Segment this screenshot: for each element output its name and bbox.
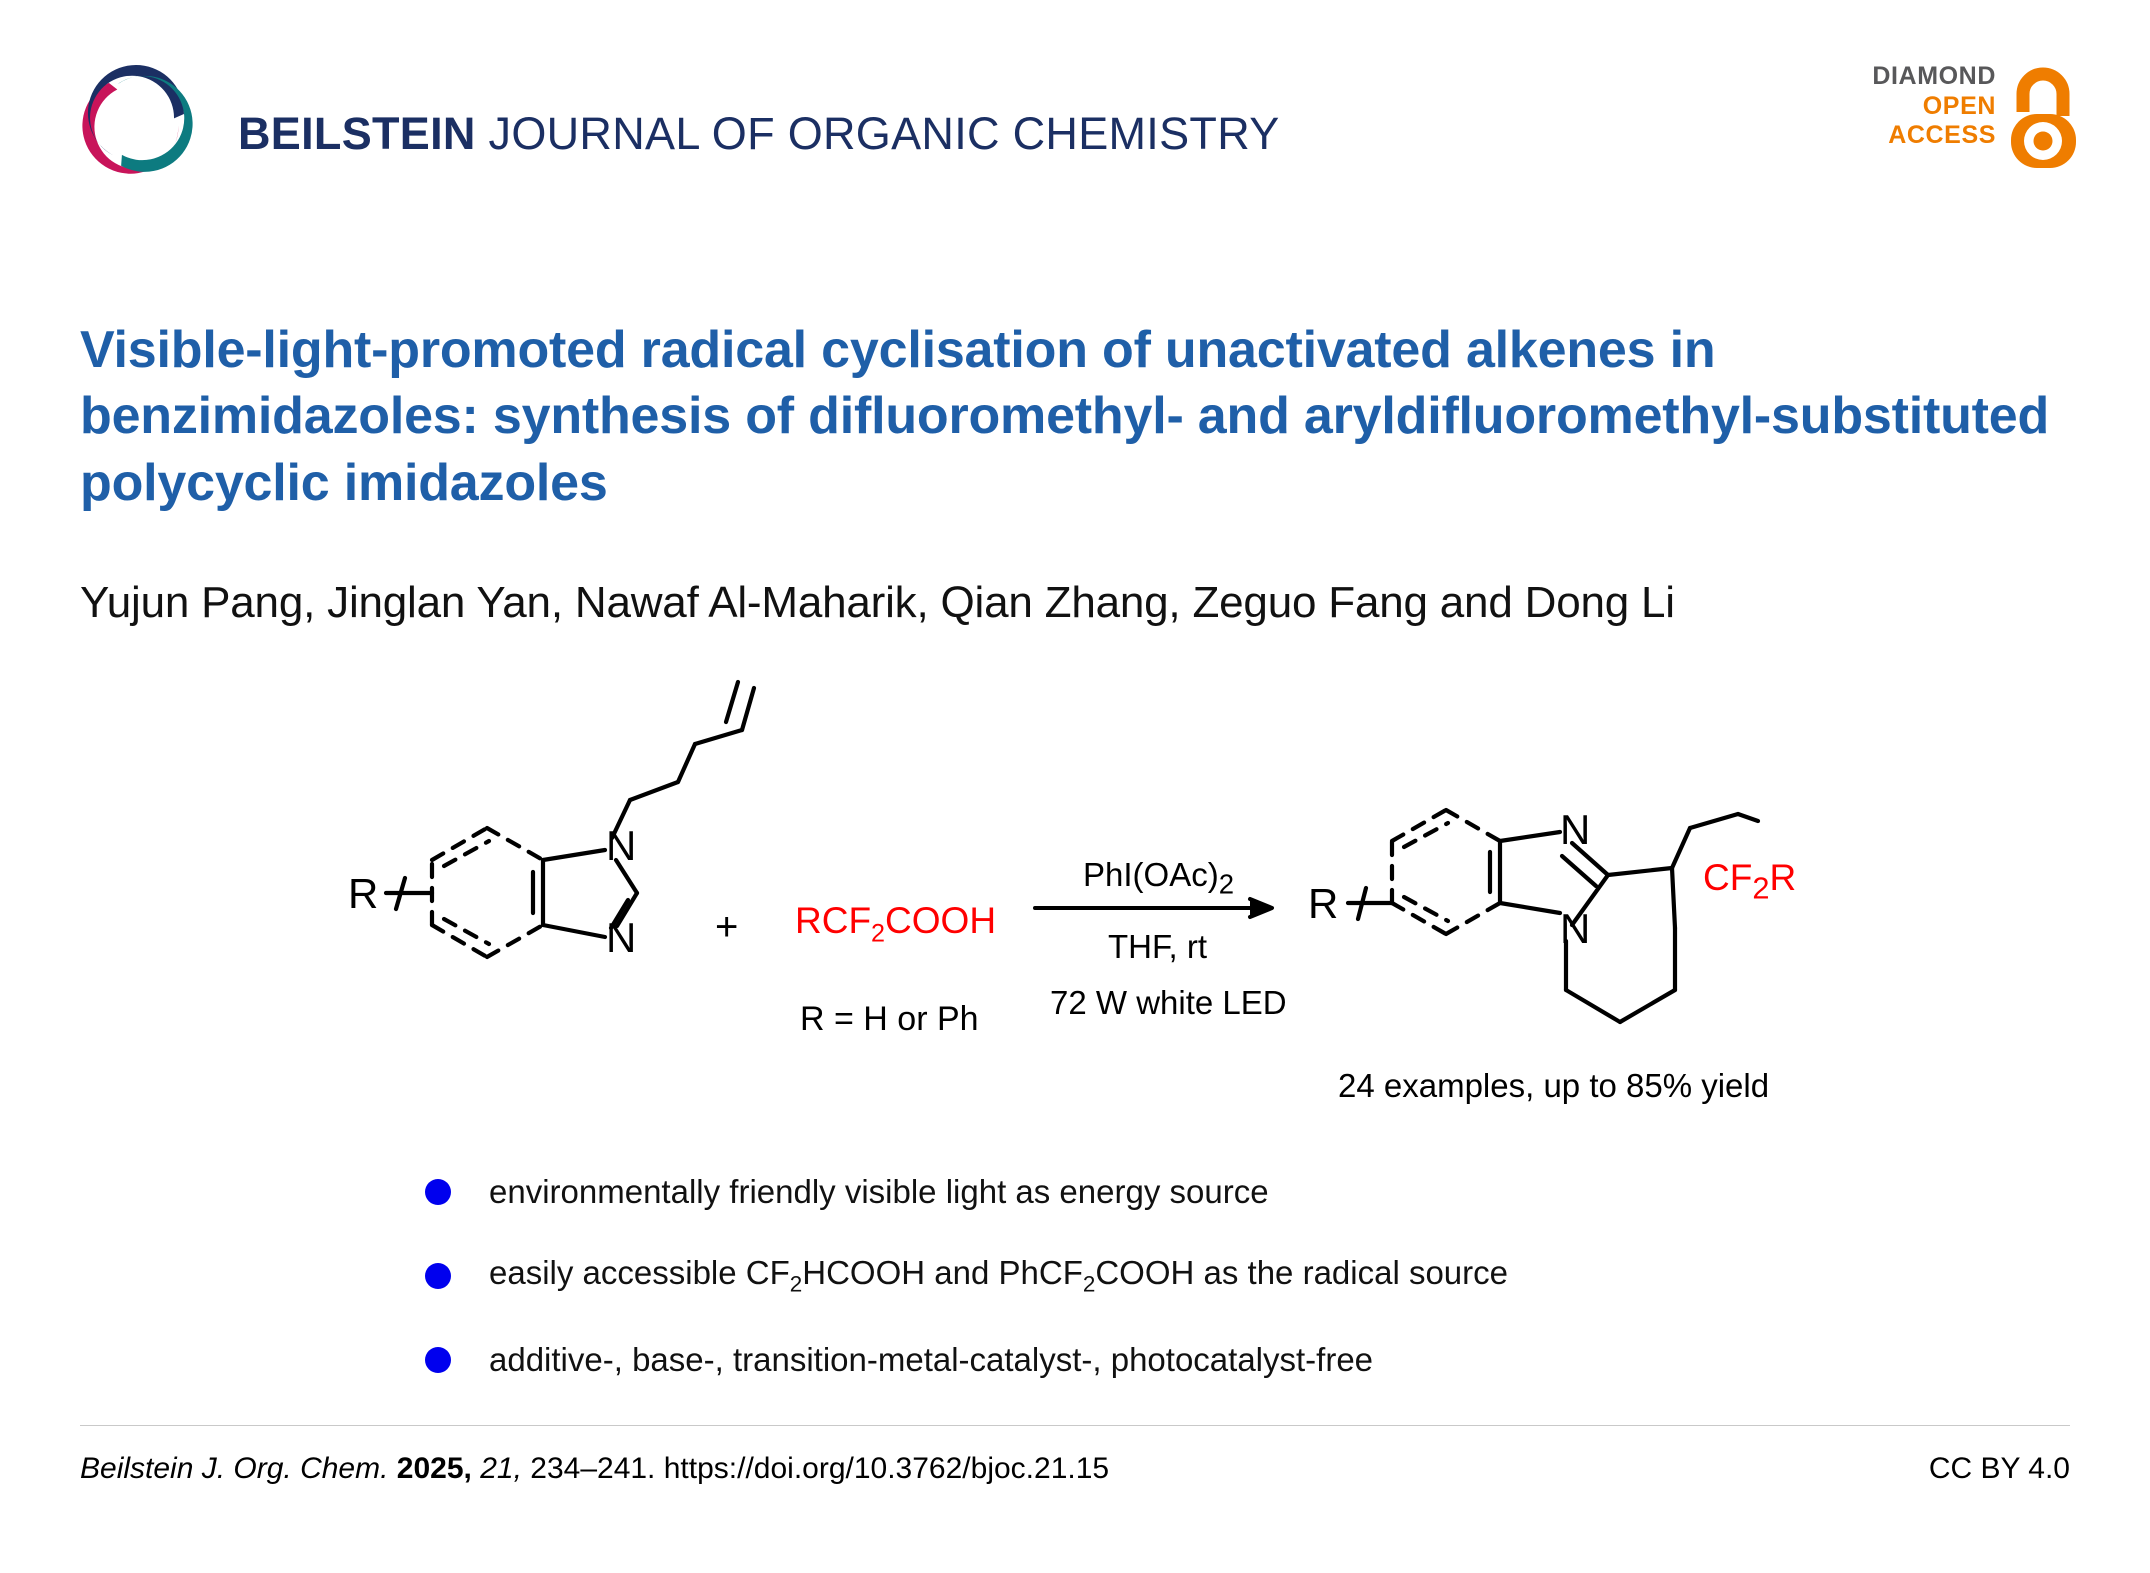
conditions-oxidant: PhI(OAc)2 — [1083, 856, 1234, 901]
citation-pages: 234–241. — [530, 1452, 655, 1485]
product-r-label: R — [1308, 880, 1338, 927]
highlight-text-3: additive-, base-, transition-metal-catal… — [489, 1341, 1373, 1379]
conditions-oxidant-pre: PhI(OAc) — [1083, 856, 1219, 893]
list-item: environmentally friendly visible light a… — [425, 1150, 1825, 1234]
highlight-text-1: environmentally friendly visible light a… — [489, 1173, 1269, 1211]
substrate-r-label: R — [348, 870, 378, 917]
product-cf2r-label: CF2R — [1703, 857, 1796, 906]
list-item: easily accessible CF2HCOOH and PhCF2COOH… — [425, 1234, 1825, 1318]
journal-title-rest: JOURNAL OF ORGANIC CHEMISTRY — [476, 108, 1280, 159]
list-item: additive-, base-, transition-metal-catal… — [425, 1318, 1825, 1402]
journal-title: BEILSTEIN JOURNAL OF ORGANIC CHEMISTRY — [238, 108, 1280, 160]
citation-volume: 21, — [480, 1452, 522, 1485]
reagent-post: COOH — [885, 900, 996, 941]
highlight2-seg1: easily accessible CF — [489, 1254, 790, 1291]
footer-divider — [80, 1425, 2070, 1426]
beilstein-swirl-logo — [78, 62, 196, 180]
graphical-abstract: N N N N R R — [0, 660, 2150, 1130]
plus-operator: + — [715, 905, 738, 950]
cf2r-sub: 2 — [1752, 870, 1769, 905]
reagent-sub: 2 — [871, 919, 885, 947]
open-access-badge: DIAMOND OPEN ACCESS — [1848, 60, 2088, 178]
oa-diamond-label: DIAMOND — [1872, 62, 1996, 92]
citation-line: Beilstein J. Org. Chem. 2025, 21, 234–24… — [80, 1452, 1109, 1486]
masthead: BEILSTEIN JOURNAL OF ORGANIC CHEMISTRY D… — [0, 0, 2150, 200]
page-title: Visible-light-promoted radical cyclisati… — [80, 317, 2050, 517]
citation-doi[interactable]: https://doi.org/10.3762/bjoc.21.15 — [664, 1452, 1109, 1485]
open-access-words: DIAMOND OPEN ACCESS — [1872, 62, 1996, 151]
conditions-light: 72 W white LED — [1050, 984, 1287, 1022]
citation-year: 2025, — [397, 1452, 472, 1485]
cf2r-pre: CF — [1703, 857, 1752, 898]
product-n1-label: N — [1560, 806, 1590, 853]
conditions-oxidant-sub: 2 — [1219, 869, 1234, 900]
highlight2-seg2: HCOOH and PhCF — [802, 1254, 1083, 1291]
highlight2-sub1: 2 — [790, 1272, 802, 1297]
oa-open-label: OPEN — [1872, 92, 1996, 122]
substrate-n1-label: N — [606, 822, 636, 869]
license-label: CC BY 4.0 — [1929, 1452, 2070, 1486]
highlight-text-2: easily accessible CF2HCOOH and PhCF2COOH… — [489, 1254, 1508, 1298]
reagent-pre: RCF — [795, 900, 871, 941]
reagent-label: RCF2COOH — [795, 900, 996, 948]
cf2r-post: R — [1769, 857, 1796, 898]
bullet-dot-icon — [425, 1347, 451, 1373]
journal-title-bold: BEILSTEIN — [238, 108, 476, 159]
oa-access-label: ACCESS — [1872, 121, 1996, 151]
substrate-n3-label: N — [606, 914, 636, 961]
highlights-list: environmentally friendly visible light a… — [425, 1150, 1825, 1402]
product-n3-label: N — [1560, 905, 1590, 952]
bullet-dot-icon — [425, 1179, 451, 1205]
highlight2-seg3: COOH as the radical source — [1095, 1254, 1508, 1291]
r-definition-label: R = H or Ph — [800, 1000, 979, 1039]
conditions-solvent: THF, rt — [1108, 928, 1207, 966]
citation-journal: Beilstein J. Org. Chem. — [80, 1452, 388, 1485]
bullet-dot-icon — [425, 1263, 451, 1289]
author-list: Yujun Pang, Jinglan Yan, Nawaf Al-Mahari… — [80, 578, 2070, 628]
highlight2-sub2: 2 — [1083, 1272, 1095, 1297]
examples-yield-note: 24 examples, up to 85% yield — [1338, 1067, 1769, 1105]
open-padlock-icon — [2006, 60, 2088, 172]
